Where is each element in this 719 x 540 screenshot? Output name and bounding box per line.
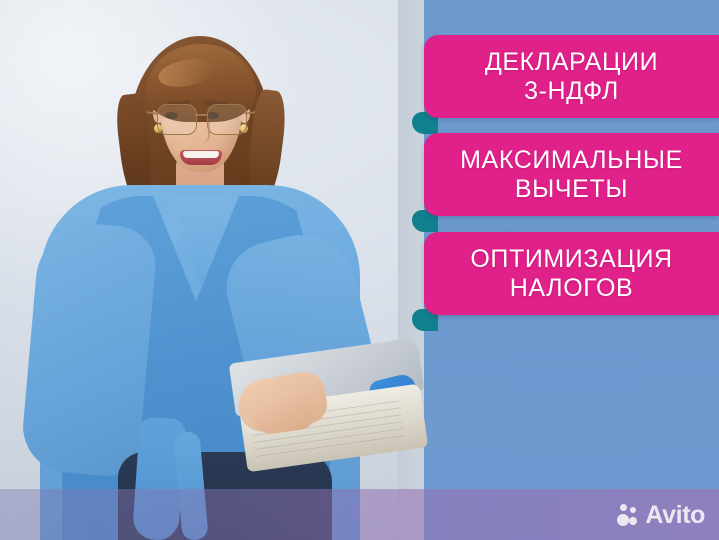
nose bbox=[194, 122, 210, 144]
avito-wordmark: Avito bbox=[645, 503, 705, 528]
banner-declarations-text: Декларации 3-НДФЛ bbox=[475, 48, 668, 105]
banner-deductions: Максимальные вычеты bbox=[424, 133, 719, 216]
avito-watermark: Avito bbox=[617, 500, 705, 530]
banner-deductions-text: Максимальные вычеты bbox=[450, 146, 693, 203]
advertisement-image: Декларации 3-НДФЛ Максимальные вычеты Оп… bbox=[0, 0, 719, 540]
banner-optimization-text: Оптимизация налогов bbox=[460, 245, 682, 302]
glasses-lens-left bbox=[157, 104, 197, 135]
person-photo bbox=[0, 0, 440, 540]
banner-declarations: Декларации 3-НДФЛ bbox=[424, 35, 719, 118]
avito-dots-icon bbox=[617, 504, 639, 526]
teeth bbox=[183, 151, 219, 158]
banner-optimization: Оптимизация налогов bbox=[424, 232, 719, 315]
bottom-overlay-band bbox=[0, 489, 719, 540]
glasses-bridge bbox=[195, 114, 207, 116]
glasses-lens-right bbox=[207, 104, 247, 135]
